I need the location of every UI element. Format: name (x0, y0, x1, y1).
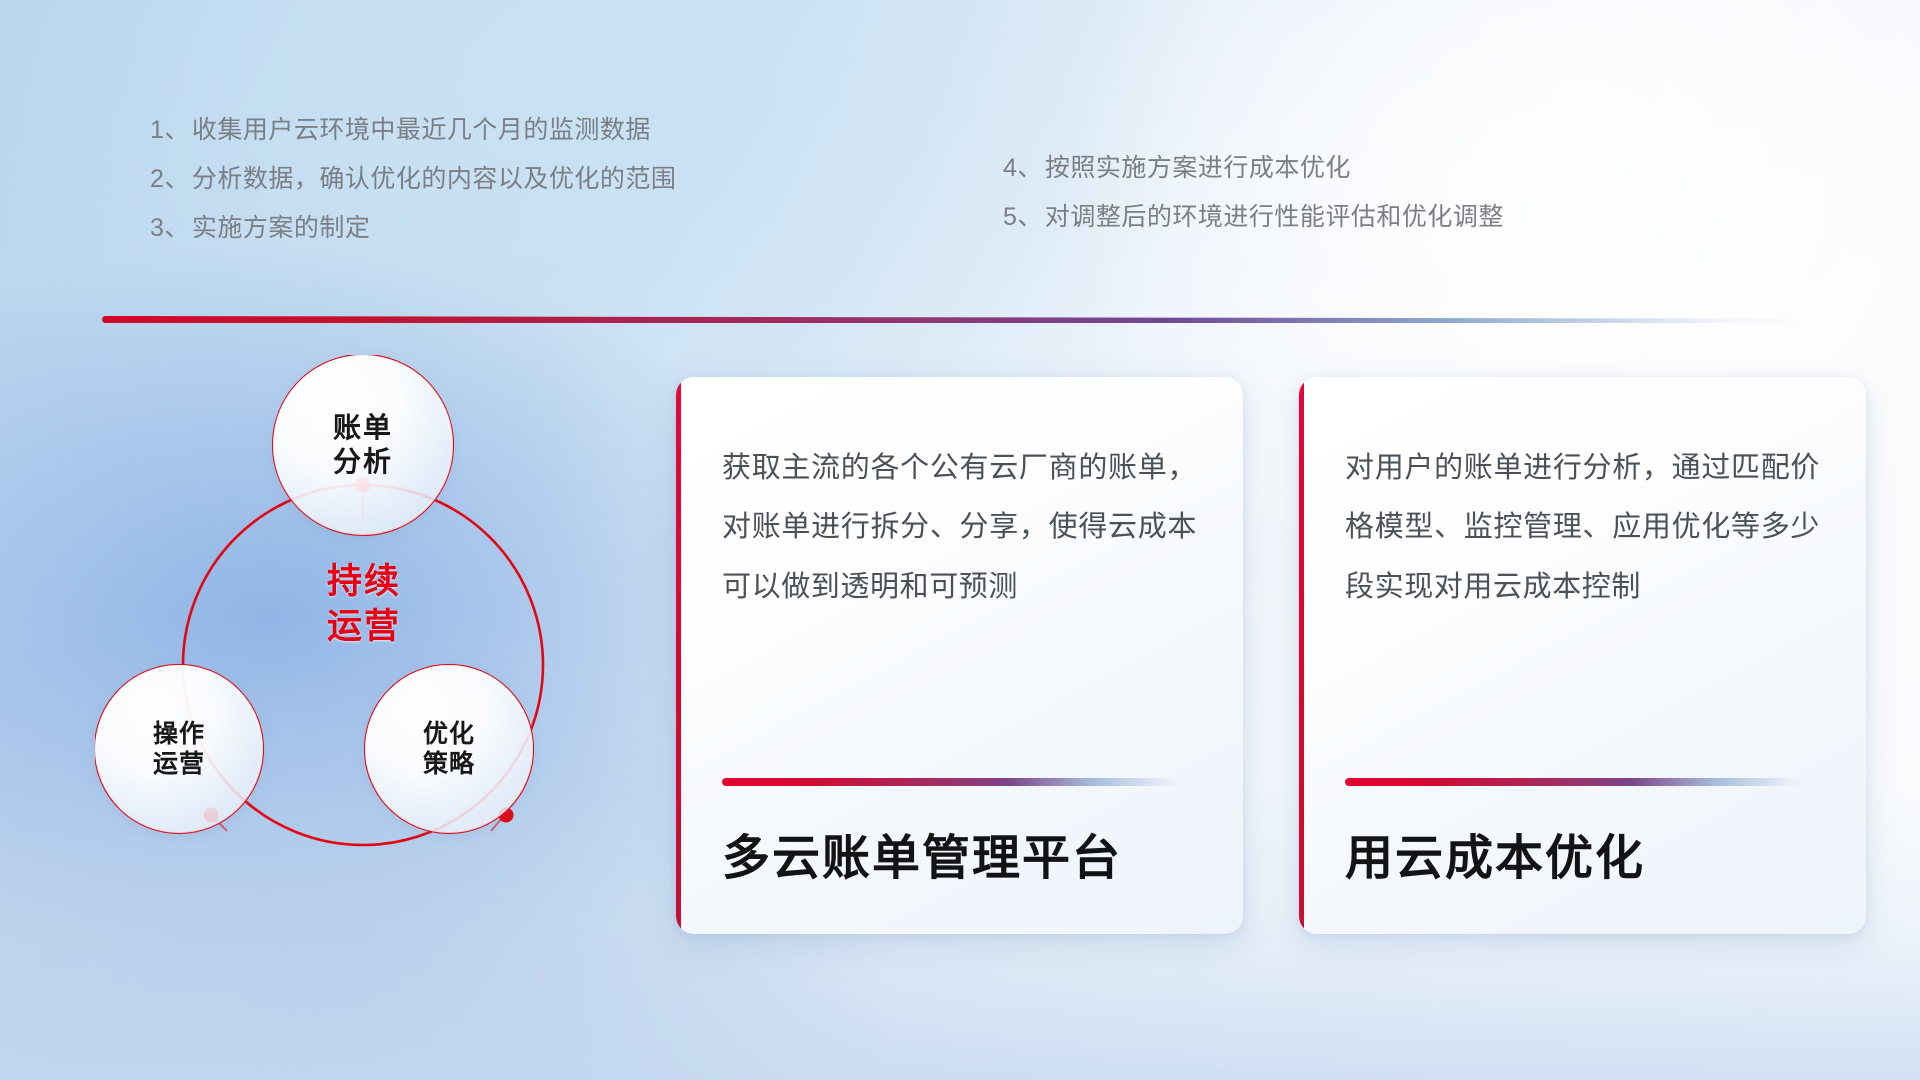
diagram-center-label-line1: 持续 (269, 560, 459, 605)
card-multicloud-billing-rule (722, 778, 1197, 786)
slide-canvas: 1、 收集用户云环境中最近几个月的监测数据 2、 分析数据，确认优化的内容以及优… (0, 0, 1920, 1080)
card-cloud-cost-optimization[interactable]: 对用户的账单进行分析，通过匹配价格模型、监控管理、应用优化等多少段实现对用云成本… (1299, 377, 1866, 934)
step-number-1: 1、 (150, 118, 190, 143)
bubble-optimization-strategy-line1: 优化 (423, 719, 475, 750)
diagram-center-label-line2: 运营 (269, 605, 459, 650)
bubble-optimization-strategy-line2: 策略 (423, 749, 475, 780)
bubble-operations[interactable]: 操作 运营 (95, 665, 263, 833)
step-text-1: 收集用户云环境中最近几个月的监测数据 (192, 118, 651, 143)
step-item-4: 4、 按照实施方案进行成本优化 (1003, 156, 1504, 181)
card-cloud-cost-optimization-title: 用云成本优化 (1345, 818, 1645, 888)
step-text-2: 分析数据，确认优化的内容以及优化的范围 (192, 167, 677, 192)
card-multicloud-billing-title: 多云账单管理平台 (722, 818, 1122, 888)
steps-section: 1、 收集用户云环境中最近几个月的监测数据 2、 分析数据，确认优化的内容以及优… (0, 0, 1920, 300)
step-text-4: 按照实施方案进行成本优化 (1045, 156, 1351, 181)
feature-cards: 获取主流的各个公有云厂商的账单，对账单进行拆分、分享，使得云成本可以做到透明和可… (676, 377, 1866, 934)
step-item-1: 1、 收集用户云环境中最近几个月的监测数据 (150, 118, 676, 143)
steps-column-left: 1、 收集用户云环境中最近几个月的监测数据 2、 分析数据，确认优化的内容以及优… (150, 118, 676, 265)
step-number-3: 3、 (150, 216, 190, 241)
steps-column-right: 4、 按照实施方案进行成本优化 5、 对调整后的环境进行性能评估和优化调整 (1003, 156, 1504, 254)
step-item-3: 3、 实施方案的制定 (150, 216, 676, 241)
step-number-2: 2、 (150, 167, 190, 192)
step-item-5: 5、 对调整后的环境进行性能评估和优化调整 (1003, 205, 1504, 230)
step-item-2: 2、 分析数据，确认优化的内容以及优化的范围 (150, 167, 676, 192)
step-text-5: 对调整后的环境进行性能评估和优化调整 (1045, 205, 1504, 230)
step-number-4: 4、 (1003, 156, 1043, 181)
bubble-operations-line2: 运营 (153, 749, 205, 780)
step-text-3: 实施方案的制定 (192, 216, 371, 241)
card-cloud-cost-optimization-body: 对用户的账单进行分析，通过匹配价格模型、监控管理、应用优化等多少段实现对用云成本… (1345, 439, 1820, 617)
diagram-center-label: 持续 运营 (269, 560, 459, 650)
bubble-optimization-strategy[interactable]: 优化 策略 (365, 665, 533, 833)
card-cloud-cost-optimization-rule (1345, 778, 1820, 786)
bubble-bill-analysis-line1: 账单 (333, 411, 393, 445)
bubble-bill-analysis-line2: 分析 (333, 445, 393, 479)
card-multicloud-billing[interactable]: 获取主流的各个公有云厂商的账单，对账单进行拆分、分享，使得云成本可以做到透明和可… (676, 377, 1243, 934)
card-multicloud-billing-body: 获取主流的各个公有云厂商的账单，对账单进行拆分、分享，使得云成本可以做到透明和可… (722, 439, 1197, 617)
bubble-operations-line1: 操作 (153, 719, 205, 750)
bubble-bill-analysis[interactable]: 账单 分析 (273, 355, 453, 535)
continuous-operation-diagram: 账单 分析 操作 运营 优化 策略 持续 运营 (95, 355, 635, 930)
step-number-5: 5、 (1003, 205, 1043, 230)
